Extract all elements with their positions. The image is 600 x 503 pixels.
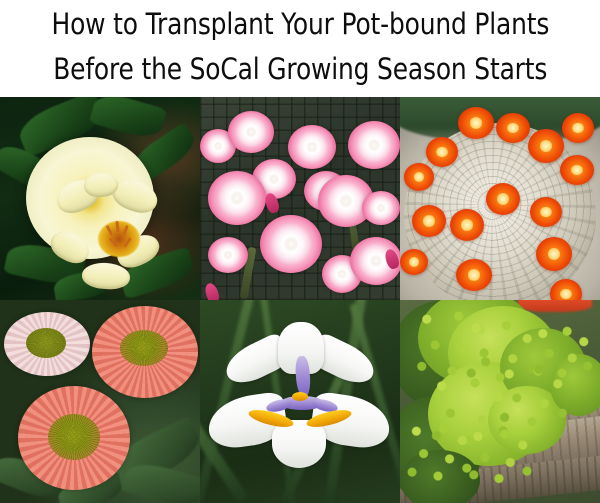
cactus-flower <box>456 259 492 291</box>
fern-background-blur <box>518 300 592 312</box>
photo-orange-cactus-flowers <box>400 97 600 300</box>
echinacea-center-pale <box>26 328 66 358</box>
cactus-flower <box>400 249 428 275</box>
collage-cell-maidenhair-fern <box>400 300 600 503</box>
cactus-flower <box>496 113 530 143</box>
adenium-flower <box>208 171 266 225</box>
collage-cell-white-iris <box>200 300 400 503</box>
collage-cell-yellow-peony <box>0 97 200 300</box>
cactus-flower <box>560 155 594 185</box>
cactus-flower <box>536 237 572 271</box>
collage-cell-pink-coneflowers <box>0 300 200 503</box>
title-line-1: How to Transplant Your Pot-bound Plants <box>51 2 549 47</box>
peony-bloom <box>26 137 154 259</box>
page-title: How to Transplant Your Pot-bound Plants … <box>0 0 600 97</box>
title-line-2: Before the SoCal Growing Season Starts <box>53 47 547 92</box>
photo-collage-grid <box>0 97 600 503</box>
adenium-flower <box>348 121 400 169</box>
cactus-flower <box>550 279 582 300</box>
adenium-flower <box>362 191 400 225</box>
cactus-flower <box>530 197 562 227</box>
iris-nectar-guide <box>292 392 308 401</box>
adenium-flower <box>260 215 322 273</box>
fern-frond <box>530 322 594 380</box>
fern-frond <box>464 424 534 486</box>
iris-fall-petal <box>272 420 326 468</box>
collage-cell-pink-desert-rose <box>200 97 400 300</box>
adenium-flower <box>228 111 274 153</box>
echinacea-center-upper <box>120 330 168 366</box>
photo-yellow-peony <box>0 97 200 300</box>
cactus-flower <box>528 129 564 163</box>
collage-cell-orange-cactus <box>400 97 600 300</box>
echinacea-center-front <box>48 414 100 460</box>
cactus-flower <box>450 209 484 241</box>
cactus-flower <box>486 183 520 215</box>
cactus-flower <box>412 205 446 237</box>
adenium-flower <box>208 237 248 273</box>
adenium-flower <box>288 125 336 169</box>
photo-pink-coneflowers <box>0 300 200 503</box>
cactus-flower <box>426 137 458 167</box>
adenium-bud <box>203 282 221 300</box>
photo-pink-desert-rose <box>200 97 400 300</box>
cactus-flower <box>458 107 494 139</box>
cactus-flower <box>404 163 434 191</box>
article-header-graphic: How to Transplant Your Pot-bound Plants … <box>0 0 600 503</box>
cactus-flower <box>562 113 594 143</box>
photo-white-african-iris <box>200 300 400 503</box>
peony-leaf <box>89 97 168 142</box>
photo-maidenhair-fern <box>400 300 600 503</box>
